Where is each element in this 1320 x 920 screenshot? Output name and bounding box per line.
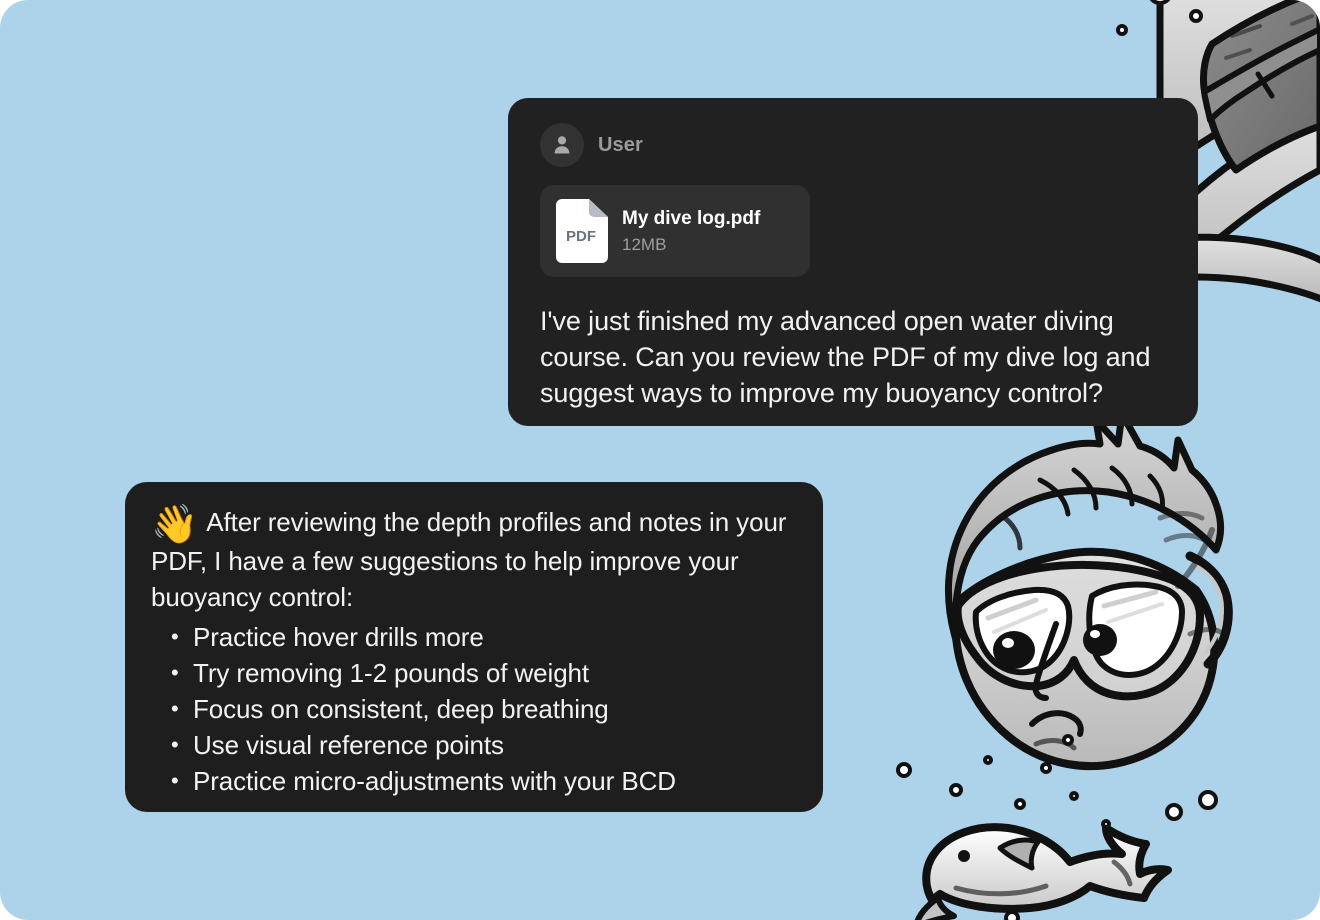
assistant-intro-paragraph: 👋After reviewing the depth profiles and …: [151, 504, 797, 615]
pdf-file-icon: PDF: [556, 199, 608, 263]
assistant-suggestion-item: Practice micro-adjustments with your BCD: [151, 763, 797, 799]
assistant-suggestion-item: Use visual reference points: [151, 727, 797, 763]
assistant-suggestion-item: Focus on consistent, deep breathing: [151, 691, 797, 727]
assistant-suggestion-item: Practice hover drills more: [151, 619, 797, 655]
pdf-attachment-card[interactable]: PDF My dive log.pdf 12MB: [540, 185, 810, 277]
assistant-suggestion-list: Practice hover drills moreTry removing 1…: [151, 619, 797, 799]
user-message-header: User: [540, 122, 1166, 168]
assistant-intro-text: After reviewing the depth profiles and n…: [151, 507, 786, 612]
user-message-text: I've just finished my advanced open wate…: [540, 303, 1166, 411]
user-message-bubble: User PDF My dive log.pdf 12MB I've just …: [508, 98, 1198, 426]
user-avatar-icon: [540, 123, 584, 167]
pdf-filename: My dive log.pdf: [622, 208, 760, 230]
svg-text:PDF: PDF: [566, 228, 596, 245]
waving-hand-emoji: 👋: [151, 504, 198, 546]
assistant-message-bubble: 👋After reviewing the depth profiles and …: [125, 482, 823, 812]
assistant-suggestion-item: Try removing 1-2 pounds of weight: [151, 655, 797, 691]
page-root: User PDF My dive log.pdf 12MB I've just …: [0, 0, 1320, 920]
pdf-filesize: 12MB: [622, 235, 760, 255]
user-author-label: User: [598, 134, 643, 157]
pdf-attachment-meta: My dive log.pdf 12MB: [622, 208, 760, 255]
